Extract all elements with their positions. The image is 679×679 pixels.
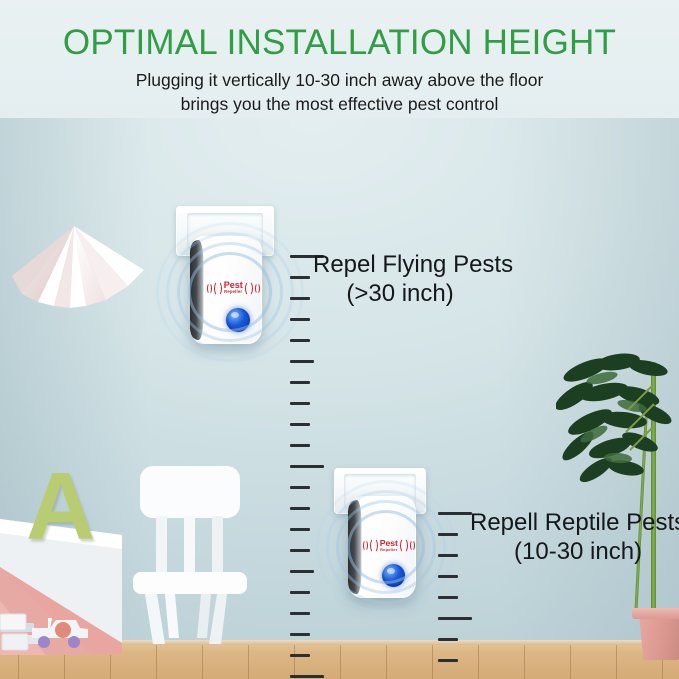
callout-flying-line1: Repel Flying Pests [313, 250, 513, 279]
floor-plank-seam [202, 641, 203, 679]
device-led-indicator [382, 564, 405, 587]
upper-ruler [290, 255, 330, 675]
ruler-tick-minor [290, 444, 310, 447]
upper-unit: Pest Repeller [168, 206, 298, 366]
logo-secondary-text: Repeller [224, 290, 243, 294]
ruler-tick-major [290, 675, 324, 678]
logo-wave-right-inner [245, 281, 253, 296]
toy-block [0, 612, 30, 652]
ruler-tick-major [290, 465, 324, 468]
product-infographic: A [0, 0, 679, 679]
logo-text: Pest Repeller [380, 539, 398, 552]
ruler-tick-minor [290, 339, 310, 342]
ruler-tick-minor [290, 612, 310, 615]
floor-plank-seam [248, 641, 249, 679]
callout-flying-line2: (>30 inch) [313, 279, 513, 309]
ruler-tick-major [438, 512, 472, 515]
device-logo-lower: Pest Repeller [366, 536, 412, 555]
logo-secondary-text: Repeller [380, 548, 398, 552]
ruler-tick-minor [290, 486, 310, 489]
floor-plank-seam [156, 641, 157, 679]
logo-wave-left-inner [214, 281, 222, 296]
logo-wave-left-inner [370, 538, 378, 553]
ruler-tick-minor [290, 360, 314, 363]
ruler-tick-minor [290, 591, 310, 594]
logo-text: Pest Repeller [224, 281, 243, 294]
logo-wave-right-outer [255, 283, 260, 294]
ruler-tick-minor [290, 549, 310, 552]
ruler-tick-minor [438, 575, 458, 578]
floor-plank-seam [340, 641, 341, 679]
logo-wave-left-outer [363, 540, 368, 551]
header-band: OPTIMAL INSTALLATION HEIGHT Plugging it … [0, 0, 679, 118]
ruler-tick-minor [438, 596, 458, 599]
floor-plank-seam [524, 641, 525, 679]
callout-reptile-line2: (10-30 inch) [470, 537, 679, 567]
child-chair [131, 466, 249, 646]
ruler-tick-minor [290, 381, 310, 384]
ruler-tick-minor [290, 654, 310, 657]
toy-car [28, 616, 92, 650]
device-side-panel [348, 500, 362, 594]
ruler-tick-major [438, 617, 472, 620]
callout-reptile-pests: Repell Reptile Pests (10-30 inch) [470, 508, 679, 567]
ruler-tick-minor [290, 570, 314, 573]
ruler-tick-minor [438, 533, 458, 536]
logo-wave-right-inner [400, 538, 408, 553]
device-led-indicator [226, 308, 250, 332]
callout-flying-pests: Repel Flying Pests (>30 inch) [313, 250, 513, 309]
ruler-tick-minor [290, 507, 310, 510]
callout-reptile-line1: Repell Reptile Pests [470, 508, 679, 537]
logo-wave-right-outer [410, 540, 415, 551]
ruler-tick-minor [438, 659, 458, 662]
ruler-tick-minor [290, 297, 310, 300]
floor-plank-seam [432, 641, 433, 679]
origami-lamp [10, 224, 160, 332]
plant-pot-rim [632, 608, 679, 619]
ruler-tick-minor [290, 318, 310, 321]
ruler-tick-minor [290, 528, 310, 531]
ruler-tick-minor [438, 638, 458, 641]
logo-wave-left-outer [207, 283, 212, 294]
page-title: OPTIMAL INSTALLATION HEIGHT [0, 0, 679, 64]
ruler-tick-minor [290, 276, 310, 279]
ruler-tick-minor [290, 402, 310, 405]
pest-repeller-device-upper: Pest Repeller [190, 236, 262, 344]
pest-repeller-device-lower: Pest Repeller [348, 496, 416, 598]
subtitle-line-2: brings you the most effective pest contr… [0, 92, 679, 116]
floor-plank-seam [478, 641, 479, 679]
ruler-tick-minor [290, 633, 310, 636]
lower-unit: Pest Repeller [326, 468, 446, 618]
ruler-tick-minor [290, 423, 310, 426]
subtitle-line-1: Plugging it vertically 10-30 inch away a… [0, 68, 679, 92]
potted-plant [556, 352, 679, 652]
device-logo-upper: Pest Repeller [209, 278, 258, 298]
floor-plank-seam [386, 641, 387, 679]
device-side-panel [190, 240, 204, 339]
ruler-tick-minor [438, 554, 458, 557]
decor-letter-a: A [26, 468, 88, 550]
